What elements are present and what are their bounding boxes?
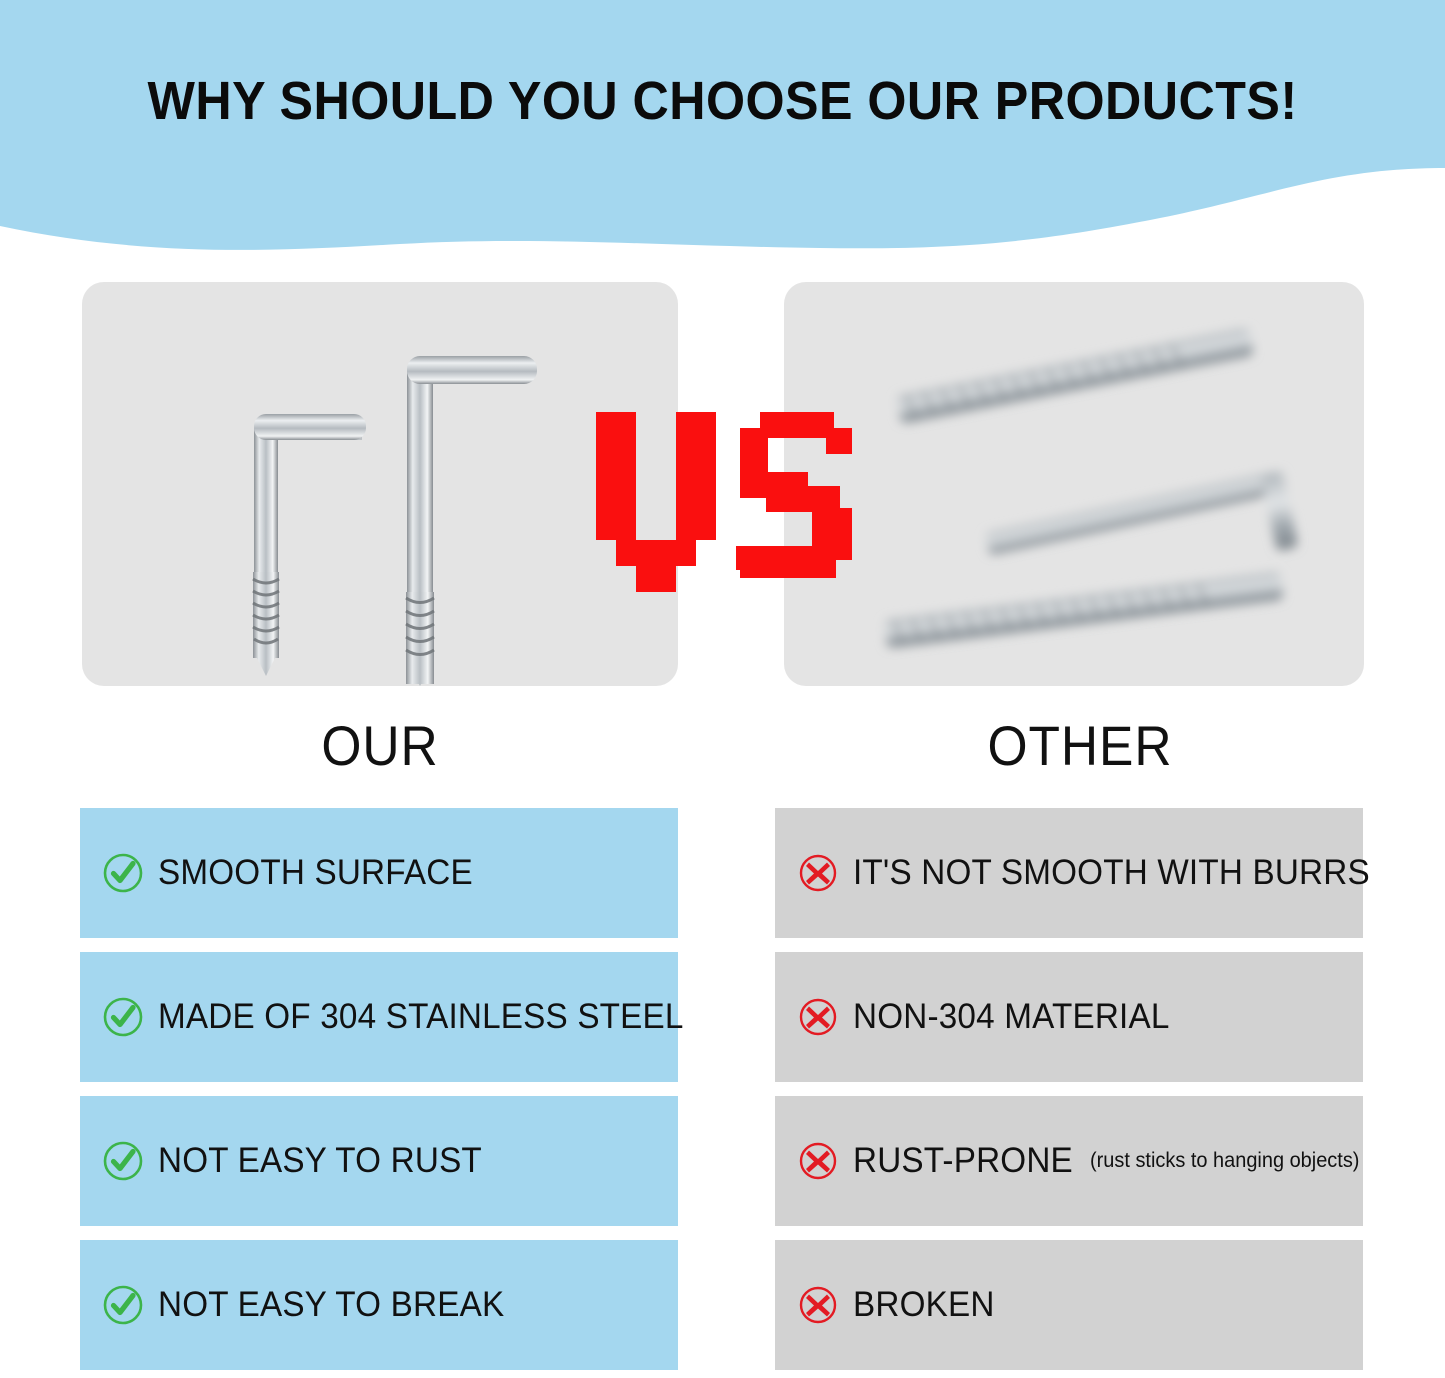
other-feature-list: IT'S NOT SMOOTH WITH BURRS NON-304 MATER… <box>775 808 1363 1378</box>
our-feature-label: SMOOTH SURFACE <box>158 855 473 892</box>
our-hooks-illustration <box>82 282 678 686</box>
our-feature-row: SMOOTH SURFACE <box>80 808 678 938</box>
other-hooks-illustration <box>784 282 1364 686</box>
cross-circle-icon <box>797 1140 839 1182</box>
vs-letter-v <box>596 412 716 592</box>
check-circle-icon <box>102 1140 144 1182</box>
our-product-photo <box>82 282 678 686</box>
our-feature-row: NOT EASY TO BREAK <box>80 1240 678 1370</box>
cross-circle-icon <box>797 996 839 1038</box>
blurred-rough-hooks <box>884 328 1299 649</box>
our-feature-label: NOT EASY TO RUST <box>158 1143 482 1180</box>
other-feature-label: IT'S NOT SMOOTH WITH BURRS <box>853 855 1370 892</box>
other-column-heading: OTHER <box>730 718 1429 774</box>
cross-circle-icon <box>797 852 839 894</box>
header-band: WHY SHOULD YOU CHOOSE OUR PRODUCTS! <box>0 0 1445 280</box>
our-feature-row: NOT EASY TO RUST <box>80 1096 678 1226</box>
vs-letter-s <box>736 412 852 578</box>
our-feature-label: NOT EASY TO BREAK <box>158 1287 504 1324</box>
infographic-page: WHY SHOULD YOU CHOOSE OUR PRODUCTS! <box>0 0 1445 1378</box>
other-feature-note: (rust sticks to hanging objects) <box>1090 1149 1359 1173</box>
other-feature-row: RUST-PRONE (rust sticks to hanging objec… <box>775 1096 1363 1226</box>
vs-pixel-text <box>590 398 858 594</box>
vs-badge <box>590 398 858 594</box>
cross-circle-icon <box>797 1284 839 1326</box>
other-feature-label: RUST-PRONE <box>853 1143 1073 1180</box>
screw-hook-large <box>406 356 537 686</box>
other-feature-row: NON-304 MATERIAL <box>775 952 1363 1082</box>
page-title: WHY SHOULD YOU CHOOSE OUR PRODUCTS! <box>51 74 1395 128</box>
our-feature-label: MADE OF 304 STAINLESS STEEL <box>158 999 684 1036</box>
other-feature-row: IT'S NOT SMOOTH WITH BURRS <box>775 808 1363 938</box>
our-feature-row: MADE OF 304 STAINLESS STEEL <box>80 952 678 1082</box>
our-column-heading: OUR <box>30 718 729 774</box>
check-circle-icon <box>102 852 144 894</box>
other-product-photo <box>784 282 1364 686</box>
screw-hook-small <box>253 414 366 676</box>
header-wave-shape <box>0 0 1445 280</box>
other-feature-label: BROKEN <box>853 1287 995 1324</box>
other-feature-label: NON-304 MATERIAL <box>853 999 1170 1036</box>
check-circle-icon <box>102 1284 144 1326</box>
check-circle-icon <box>102 996 144 1038</box>
other-feature-row: BROKEN <box>775 1240 1363 1370</box>
our-feature-list: SMOOTH SURFACE MADE OF 304 STAINLESS STE… <box>80 808 678 1378</box>
